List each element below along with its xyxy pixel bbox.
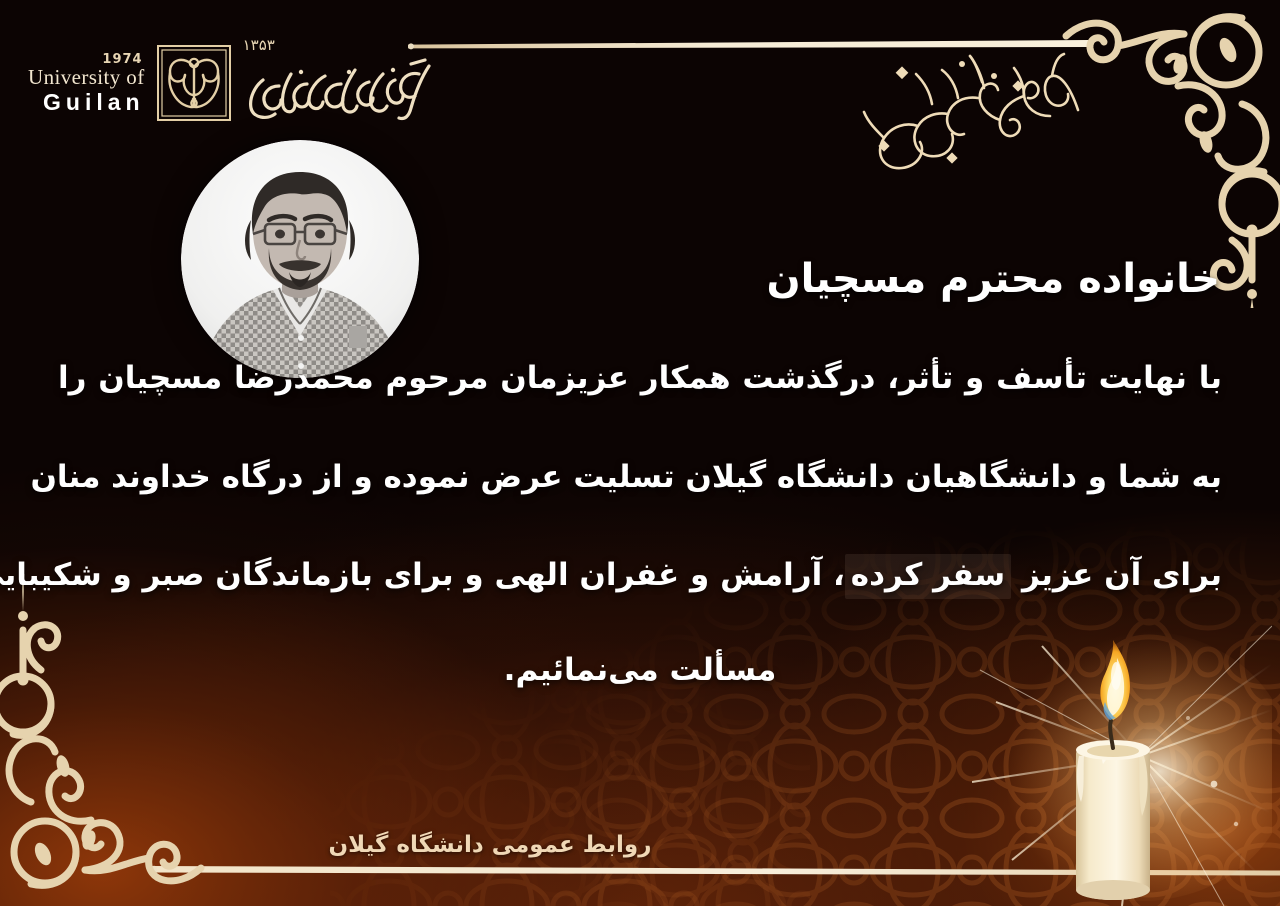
gold-tapering-line-top-icon xyxy=(408,40,1088,54)
quranic-calligraphy-icon: إنما أشكو بثّي وحزني إلى الله xyxy=(854,46,1084,186)
gold-tapering-line-bottom-icon xyxy=(150,862,1280,878)
logo-persian-year: ۱۳۵۳ xyxy=(243,36,275,54)
condolence-body: با نهایت تأسف و تأثر، درگذشت همکار عزیزم… xyxy=(0,362,1280,686)
page-title: خانواده محترم مسچیان xyxy=(766,256,1220,302)
condolence-line-3-part-b: ، آرامش و غفران الهی و برای بازماندگان ص… xyxy=(0,557,845,593)
logo-english-text: 1974 University of Guilan xyxy=(28,53,145,114)
condolence-line-3: برای آن عزیز سفر کرده، آرامش و غفران اله… xyxy=(58,559,1222,592)
logo-english-year: 1974 xyxy=(102,53,142,66)
logo-english-line1: University of xyxy=(28,67,145,88)
deceased-portrait: man-with-glasses-beard-checkered-shirt xyxy=(181,140,419,378)
condolence-line-3-part-a: برای آن عزیز xyxy=(1022,557,1222,593)
logo-persian-text: ۱۳۵۳ دانشگاه گیلان xyxy=(243,36,433,130)
highlighted-phrase: سفر کرده xyxy=(845,554,1011,599)
university-of-guilan-logo: 1974 University of Guilan ۱۳۵۳ دانشگاه گ… xyxy=(28,36,433,130)
condolence-line-1: با نهایت تأسف و تأثر، درگذشت همکار عزیزم… xyxy=(58,362,1222,395)
condolence-poster: 1974 University of Guilan ۱۳۵۳ دانشگاه گ… xyxy=(0,0,1280,906)
logo-persian-name-icon: دانشگاه گیلان xyxy=(243,56,433,130)
logo-english-line2: Guilan xyxy=(43,91,145,114)
footer-signature: روابط عمومی دانشگاه گیلان xyxy=(0,832,1280,858)
footer-text: روابط عمومی دانشگاه گیلان xyxy=(329,832,952,858)
condolence-line-4: مسألت می‌نمائیم. xyxy=(58,654,1222,687)
condolence-line-2: به شما و دانشگاهیان دانشگاه گیلان تسلیت … xyxy=(58,461,1222,494)
guilan-butterfly-emblem-icon xyxy=(155,43,233,123)
